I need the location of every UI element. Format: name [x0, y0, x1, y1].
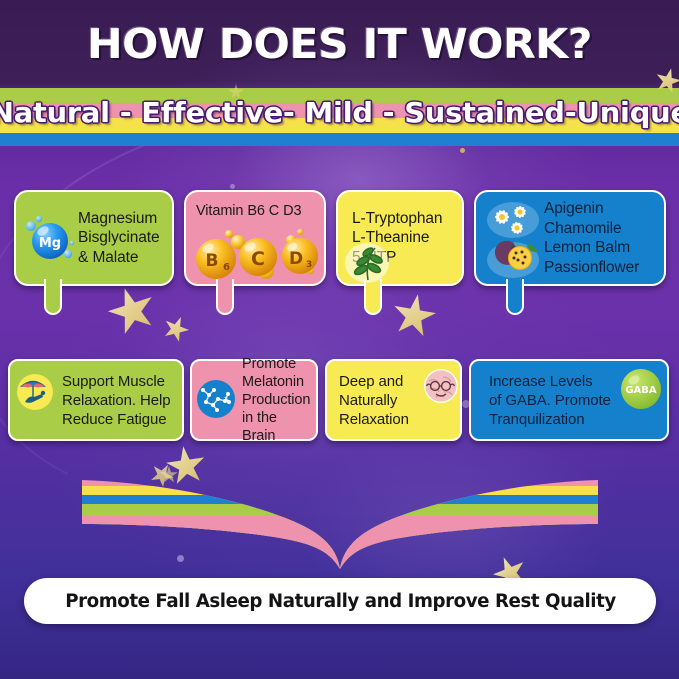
melatonin-molecule-icon — [196, 377, 236, 421]
sleeping-brain-icon — [421, 367, 461, 405]
svg-text:GABA: GABA — [625, 385, 657, 396]
infographic-poster: HOW DOES IT WORK? Natural - Effective- M… — [0, 0, 679, 679]
ingredient-card-tryptophan[interactable]: L-Tryptophan L-Theanine 5-HTP — [336, 190, 464, 286]
gummy-star-decor — [389, 291, 440, 342]
beach-relax-icon — [16, 373, 54, 411]
benefit-card-text: Increase Levels of GABA. Promote Tranqui… — [489, 372, 611, 429]
svg-text:6: 6 — [223, 262, 230, 273]
herb-leaf-icon — [344, 242, 390, 284]
benefit-card-deep-relaxation[interactable]: Deep and Naturally Relaxation — [325, 359, 462, 441]
card-tail — [364, 279, 382, 315]
ingredient-card-text: Magnesium Bisglycinate & Malate — [78, 209, 160, 268]
card-tail — [506, 279, 524, 315]
svg-text:D: D — [289, 249, 303, 269]
rainbow-ribbon — [80, 478, 600, 570]
ingredient-card-text: Apigenin Chamomile Lemon Balm Passionflo… — [544, 199, 639, 277]
confetti-dot — [230, 184, 235, 189]
ingredient-card-apigenin[interactable]: Apigenin Chamomile Lemon Balm Passionflo… — [474, 190, 666, 286]
ingredient-card-vitamins[interactable]: B 6 C D 3 Vitamin B6 C D3 — [184, 190, 326, 286]
gummy-star-decor — [159, 312, 193, 346]
benefit-card-text: Deep and Naturally Relaxation — [339, 372, 409, 429]
chamomile-passionflower-icon — [484, 200, 542, 280]
gaba-badge-icon: GABA — [619, 367, 663, 411]
card-tail — [216, 279, 234, 315]
band-stripe-blue — [0, 133, 679, 146]
svg-text:B: B — [206, 251, 219, 271]
svg-text:3: 3 — [306, 260, 312, 270]
svg-text:C: C — [251, 248, 265, 270]
footer-pill[interactable]: Promote Fall Asleep Naturally and Improv… — [24, 578, 656, 624]
ingredient-card-text: Vitamin B6 C D3 — [196, 202, 301, 222]
benefit-card-melatonin[interactable]: Promote Melatonin Production in the Brai… — [190, 359, 318, 441]
benefit-card-text: Promote Melatonin Production in the Brai… — [242, 355, 310, 445]
benefit-card-text: Support Muscle Relaxation. Help Reduce F… — [62, 372, 170, 429]
ingredient-card-magnesium[interactable]: Mg Magnesium Bisglycinate & Malate — [14, 190, 174, 286]
gummy-star-decor — [102, 281, 162, 341]
svg-text:Mg: Mg — [39, 236, 61, 251]
page-title: HOW DOES IT WORK? — [0, 20, 679, 68]
confetti-dot — [460, 148, 465, 153]
vitamin-capsules-icon: B 6 C D 3 — [192, 226, 324, 282]
header: HOW DOES IT WORK? — [0, 0, 679, 88]
card-tail — [44, 279, 62, 315]
band-tagline: Natural - Effective- Mild - Sustained-Un… — [0, 96, 679, 130]
magnesium-drop-icon: Mg — [24, 210, 76, 270]
benefit-card-muscle-relaxation[interactable]: Support Muscle Relaxation. Help Reduce F… — [8, 359, 184, 441]
benefit-card-gaba[interactable]: Increase Levels of GABA. Promote Tranqui… — [469, 359, 669, 441]
footer-pill-text: Promote Fall Asleep Naturally and Improv… — [65, 591, 616, 612]
